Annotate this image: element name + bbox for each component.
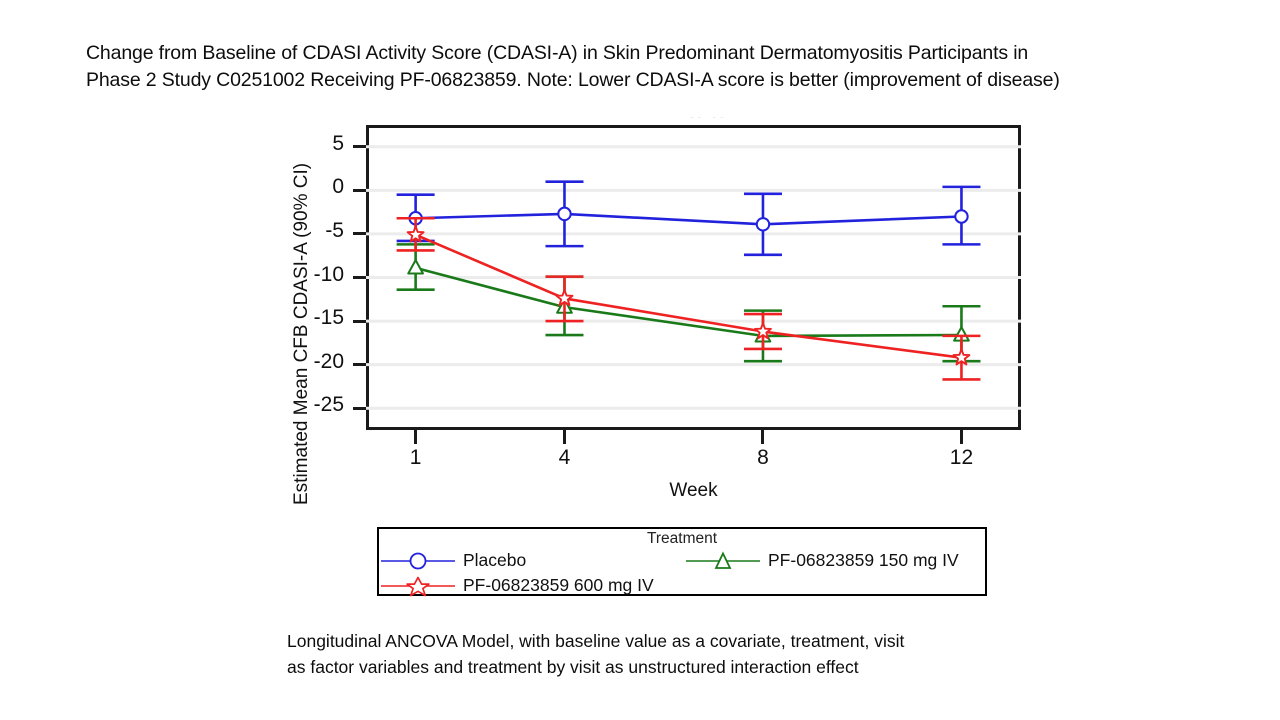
series-placebo [397,182,981,255]
legend-swatch-150mg [684,550,762,572]
series-pf-06823859-600-mg-iv [397,218,981,379]
data-point-circle-marker [757,218,769,230]
y-tick-mark [353,189,366,192]
footnote-line-2: as factor variables and treatment by vis… [287,654,1087,680]
y-tick-mark [353,320,366,323]
legend-entry-150mg[interactable]: PF-06823859 150 mg IV [684,548,959,573]
series-line [416,214,962,224]
chart-figure: -- -- Estimated Mean CFB CDASI-A (90% CI… [0,0,1280,720]
y-tick-label: -20 [288,350,344,374]
series-line [416,235,962,358]
x-tick-label: 12 [931,446,991,470]
footnote: Longitudinal ANCOVA Model, with baseline… [287,628,1087,680]
x-axis-title: Week [366,480,1021,502]
legend-entry-600mg[interactable]: PF-06823859 600 mg IV [379,573,684,598]
data-point-star-marker [557,290,573,305]
legend-entry-placebo[interactable]: Placebo [379,548,684,573]
legend-row-2: PF-06823859 600 mg IV [379,573,985,598]
y-tick-label: -25 [288,393,344,417]
x-tick-mark [960,430,963,444]
y-tick-mark [353,276,366,279]
legend-swatch-600mg [379,575,457,597]
data-point-circle-marker [558,208,570,220]
y-tick-label: 0 [288,175,344,199]
x-tick-mark [414,430,417,444]
x-tick-mark [563,430,566,444]
footnote-line-1: Longitudinal ANCOVA Model, with baseline… [287,628,1087,654]
y-tick-mark [353,363,366,366]
x-tick-label: 8 [733,446,793,470]
series-pf-06823859-150-mg-iv [397,244,981,361]
legend-label-150mg: PF-06823859 150 mg IV [762,550,959,571]
y-tick-label: 5 [288,132,344,156]
legend-swatch-placebo [379,550,457,572]
circle-marker [379,550,457,572]
legend: Treatment Placebo PF-06823859 150 mg IV [377,527,987,596]
x-tick-label: 4 [534,446,594,470]
clipped-text-artifact: -- -- [690,112,740,118]
y-axis-title: Estimated Mean CFB CDASI-A (90% CI) [291,105,313,505]
data-point-triangle-marker [408,260,423,273]
y-tick-label: -5 [288,219,344,243]
legend-title: Treatment [379,530,985,548]
y-tick-label: -10 [288,263,344,287]
y-tick-mark [353,407,366,410]
x-tick-label: 1 [386,446,446,470]
legend-label-600mg: PF-06823859 600 mg IV [457,575,654,596]
x-tick-mark [761,430,764,444]
data-point-star-marker [408,226,424,241]
y-tick-label: -15 [288,306,344,330]
legend-label-placebo: Placebo [457,550,526,571]
star-marker [379,575,457,597]
y-tick-mark [353,232,366,235]
data-point-circle-marker [955,210,967,222]
plot-canvas [366,125,1021,430]
y-tick-mark [353,145,366,148]
triangle-marker [684,550,762,572]
legend-row-1: Placebo PF-06823859 150 mg IV [379,548,985,573]
